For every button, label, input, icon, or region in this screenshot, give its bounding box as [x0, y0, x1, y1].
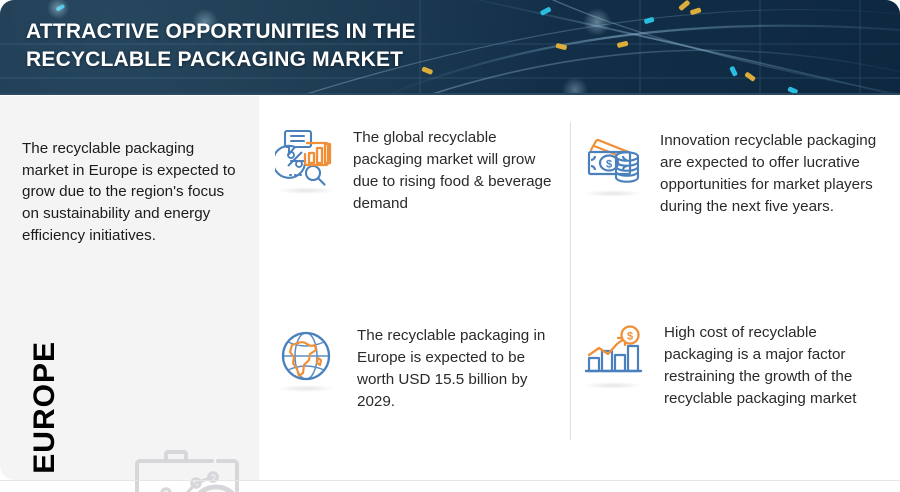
column-divider [570, 122, 571, 440]
intro-text: The recyclable packaging market in Europ… [22, 138, 240, 246]
fact-card-innovation-opportunity: $ Innovation recyclable packaging are ex… [582, 130, 882, 218]
fact-card-global-growth: The global recyclable packaging market w… [275, 127, 560, 215]
icon-shadow [584, 382, 642, 389]
banner-bottom-rule [0, 93, 900, 95]
fact-text: High cost of recyclable packaging is a m… [644, 322, 876, 410]
bottom-rule [0, 480, 900, 481]
presentation-board-analytics-magnifier-icon [118, 448, 258, 492]
icon-shadow [584, 190, 642, 197]
page-title: ATTRACTIVE OPPORTUNITIES IN THE RECYCLAB… [26, 18, 546, 74]
icon-shadow [277, 385, 335, 392]
bar-chart-growth-dollar-icon: $ [582, 322, 644, 384]
globe-europe-africa-icon [275, 325, 337, 387]
icon-shadow [277, 187, 335, 194]
header-banner: ATTRACTIVE OPPORTUNITIES IN THE RECYCLAB… [0, 0, 900, 95]
svg-text:$: $ [627, 331, 633, 343]
left-panel: The recyclable packaging market in Europ… [0, 96, 259, 480]
svg-text:$: $ [606, 159, 612, 171]
market-analytics-chart-percent-search-icon [275, 127, 337, 189]
fact-text: The recyclable packaging in Europe is ex… [337, 325, 560, 413]
fact-card-high-cost-restraint: $ High cost of recyclable packaging is a… [582, 322, 882, 410]
fact-text: Innovation recyclable packaging are expe… [644, 130, 882, 218]
region-label: EUROPE [28, 341, 62, 474]
fact-text: The global recyclable packaging market w… [337, 127, 560, 215]
cash-money-coins-icon: $ [582, 130, 644, 192]
fact-card-europe-value: The recyclable packaging in Europe is ex… [275, 325, 560, 413]
infographic-root: ATTRACTIVE OPPORTUNITIES IN THE RECYCLAB… [0, 0, 900, 492]
